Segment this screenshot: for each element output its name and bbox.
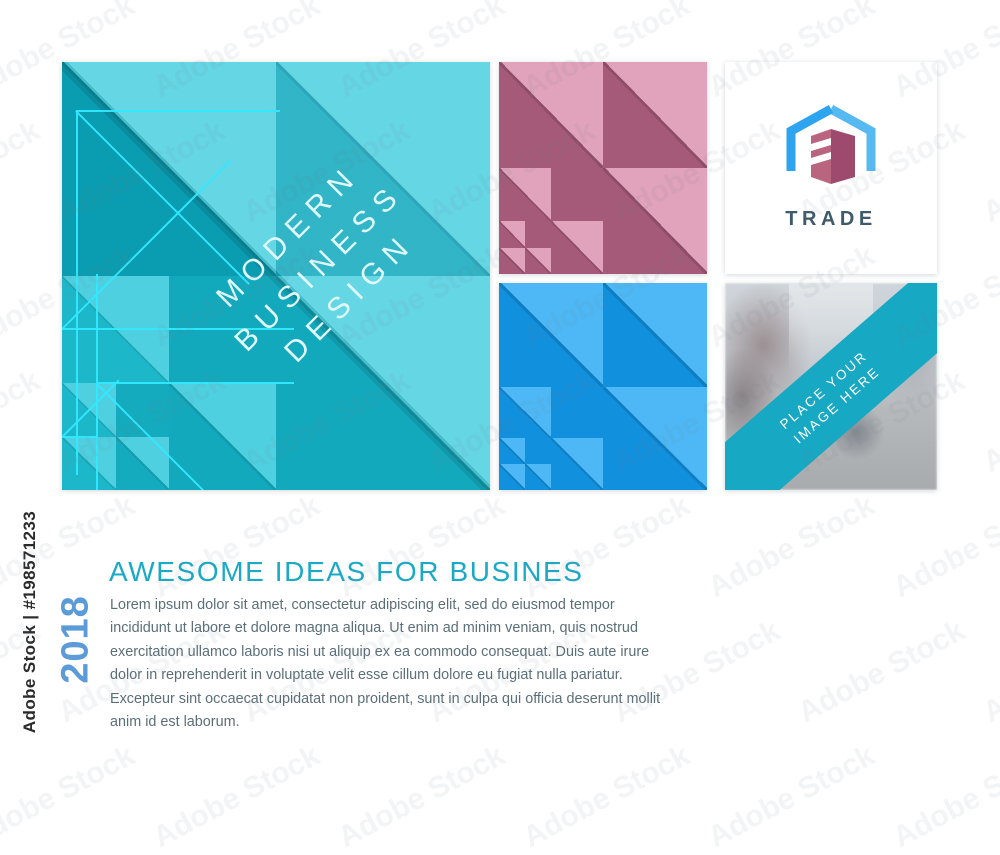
page-title: AWESOME IDEAS FOR BUSINES	[109, 556, 584, 588]
blue-sub-tr	[551, 387, 603, 439]
pink-mini-triangle-tl	[499, 221, 525, 248]
watermark-tile: Adobe Stock	[148, 739, 326, 855]
watermark-tile: Adobe Stock	[333, 739, 511, 855]
blue-quadrant-tl	[499, 283, 603, 387]
watermark-tile: Adobe Stock	[0, 364, 46, 480]
brand-name: TRADE	[785, 208, 876, 231]
watermark-tile: Adobe Stock	[0, 739, 141, 855]
pink-mini-triangle-bl	[499, 248, 525, 275]
watermark-tile: Adobe Stock	[518, 739, 696, 855]
logo-card[interactable]: TRADE	[725, 62, 937, 274]
pink-pattern-card[interactable]	[499, 62, 707, 274]
pink-sub-bl	[499, 221, 551, 274]
watermark-tile: Adobe Stock	[703, 739, 881, 855]
blue-triangle-br	[603, 387, 707, 491]
pink-sub-tr	[551, 168, 603, 221]
blue-sub-triangle-br	[551, 438, 603, 490]
blue-mini-tr	[525, 438, 551, 464]
pink-mini-bl	[499, 248, 525, 275]
blue-sub-br	[551, 438, 603, 490]
blue-quadrant-br	[603, 387, 707, 491]
body-paragraph: Lorem ipsum dolor sit amet, consectetur …	[110, 594, 672, 735]
poster-stroke-h-low	[96, 382, 294, 384]
pink-sub-br	[551, 221, 603, 274]
blue-mini-triangle-tl	[499, 438, 525, 464]
blue-sub-triangle-tl	[499, 387, 551, 439]
watermark-tile: Adobe Stock	[793, 614, 971, 730]
pink-mini-br	[525, 248, 551, 275]
pink-triangle-tr	[603, 62, 707, 168]
poster-stroke-h-374	[62, 436, 98, 438]
blue-mini-tl	[499, 438, 525, 464]
watermark-tile: Adobe Stock	[0, 114, 46, 230]
watermark-tile: Adobe Stock	[703, 489, 881, 605]
pink-sub-triangle-br	[551, 221, 603, 274]
watermark-tile: Adobe Stock	[888, 489, 1000, 605]
pink-triangle-tl	[499, 62, 603, 168]
pink-quadrant-br	[603, 168, 707, 274]
pink-sub-triangle-tl	[499, 168, 551, 221]
watermark-tile: Adobe Stock	[978, 114, 1000, 230]
pink-mini-triangle-br	[525, 248, 551, 275]
pink-quadrant-tl	[499, 62, 603, 168]
blue-quadrant-bl	[499, 387, 603, 491]
trade-hexagon-logo-icon	[785, 105, 877, 194]
stock-id-watermark: Adobe Stock | #198571233	[20, 497, 40, 747]
poster-card[interactable]: MODERN BUSINESS DESIGN	[62, 62, 490, 490]
blue-pattern-card[interactable]	[499, 283, 707, 490]
blue-mini-triangle-br	[525, 464, 551, 490]
blue-triangle-tl	[499, 283, 603, 387]
pink-triangle-br	[603, 168, 707, 274]
pink-quadrant-tr	[603, 62, 707, 168]
year-label: 2018	[55, 585, 98, 695]
photo-placeholder-card[interactable]: PLACE YOUR IMAGE HERE	[725, 283, 937, 490]
blue-quadrant-tr	[603, 283, 707, 387]
blue-mini-triangle-bl	[499, 464, 525, 490]
blue-sub-tl	[499, 387, 551, 439]
pink-sub-tl	[499, 168, 551, 221]
watermark-tile: Adobe Stock	[888, 739, 1000, 855]
poster-stroke-h-top	[76, 110, 280, 112]
blue-sub-bl	[499, 438, 551, 490]
blue-mini-bl	[499, 464, 525, 490]
blue-mini-br	[525, 464, 551, 490]
watermark-tile: Adobe Stock	[978, 614, 1000, 730]
pink-mini-tr	[525, 221, 551, 248]
watermark-tile: Adobe Stock	[978, 364, 1000, 480]
pink-quadrant-bl	[499, 168, 603, 274]
pink-mini-tl	[499, 221, 525, 248]
blue-triangle-tr	[603, 283, 707, 387]
